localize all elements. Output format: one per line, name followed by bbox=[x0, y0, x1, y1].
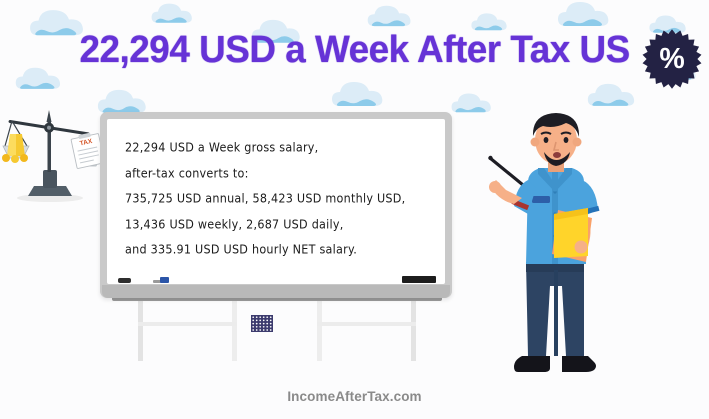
percent-symbol: % bbox=[659, 43, 684, 75]
footer: IncomeAfterTax.com bbox=[0, 388, 709, 406]
flag-star bbox=[263, 326, 265, 328]
flag-star bbox=[256, 323, 258, 325]
cloud-body bbox=[452, 94, 491, 113]
flag-star bbox=[266, 329, 268, 331]
flag-star bbox=[259, 316, 261, 318]
board-line-2: after-tax converts to: bbox=[125, 159, 435, 188]
eye-right bbox=[564, 137, 569, 143]
flag-star bbox=[256, 320, 258, 322]
flag-star bbox=[263, 323, 265, 325]
name-badge bbox=[532, 196, 550, 203]
flag-star bbox=[256, 326, 258, 328]
us-flag-icon bbox=[251, 315, 303, 346]
percent-badge-icon: % bbox=[641, 28, 703, 90]
title-band: 22,294 USD a Week After Tax US bbox=[0, 22, 709, 78]
board-line-5: and 335.91 USD USD hourly NET salary. bbox=[125, 235, 435, 264]
hand-left bbox=[489, 181, 501, 193]
mouth bbox=[553, 152, 561, 158]
shoe-left bbox=[514, 356, 550, 372]
ear-left bbox=[531, 138, 540, 147]
scale-finial bbox=[47, 110, 52, 122]
board-line-1: 22,294 USD a Week gross salary, bbox=[125, 133, 435, 162]
flag-star bbox=[263, 320, 265, 322]
board-eraser-right bbox=[402, 276, 436, 283]
cloud-shape bbox=[452, 94, 491, 113]
stand-leg-left bbox=[138, 301, 143, 361]
stand-crossbar-left bbox=[138, 322, 237, 326]
whiteboard-surface: 22,294 USD a Week gross salary, after-ta… bbox=[107, 119, 445, 284]
flag-star bbox=[263, 329, 265, 331]
flag-star bbox=[266, 320, 268, 322]
cloud-accent bbox=[337, 99, 376, 106]
flag-star bbox=[259, 320, 261, 322]
flag-star bbox=[270, 323, 272, 325]
balance-scale-icon: TAX bbox=[2, 108, 106, 204]
flag-star bbox=[270, 316, 272, 318]
cloud-shape bbox=[152, 4, 192, 23]
scale-base-block bbox=[43, 170, 57, 188]
flag-canton bbox=[251, 315, 273, 332]
stand-leg-inner-left bbox=[232, 301, 237, 361]
whiteboard: 22,294 USD a Week gross salary, after-ta… bbox=[100, 112, 452, 298]
infographic-canvas: 22,294 USD a Week After Tax US % bbox=[0, 0, 709, 419]
cloud-body bbox=[588, 84, 634, 106]
cloud-body bbox=[152, 4, 192, 23]
cloud-shape bbox=[588, 84, 634, 106]
board-marker-blue bbox=[160, 277, 169, 283]
board-eraser-black bbox=[118, 278, 131, 283]
presenter-illustration bbox=[488, 110, 628, 390]
flag-star bbox=[266, 326, 268, 328]
pants-seam bbox=[554, 270, 558, 356]
whiteboard-text: 22,294 USD a Week gross salary, after-ta… bbox=[125, 135, 435, 263]
flag-star bbox=[270, 329, 272, 331]
eye-left bbox=[544, 137, 549, 143]
stand-leg-right bbox=[411, 301, 416, 361]
flag-star bbox=[252, 316, 254, 318]
flag-star bbox=[266, 316, 268, 318]
yellow-folder bbox=[552, 208, 592, 262]
flag-star bbox=[259, 329, 261, 331]
cloud-accent bbox=[20, 83, 54, 89]
flag-star bbox=[252, 320, 254, 322]
flag-star bbox=[270, 326, 272, 328]
flag-star bbox=[252, 326, 254, 328]
cloud-accent bbox=[592, 100, 628, 106]
stand-crossbar-right bbox=[317, 322, 416, 326]
flag-star bbox=[259, 326, 261, 328]
flag-star bbox=[266, 323, 268, 325]
board-line-3: 735,725 USD annual, 58,423 USD monthly U… bbox=[125, 184, 435, 213]
hand-right bbox=[575, 241, 588, 254]
page-title: 22,294 USD a Week After Tax US bbox=[79, 29, 629, 72]
flag-star bbox=[252, 323, 254, 325]
site-name: IncomeAfterTax.com bbox=[287, 389, 421, 404]
ear-right bbox=[573, 138, 582, 147]
whiteboard-tray bbox=[102, 285, 450, 298]
cloud-shape bbox=[332, 82, 382, 106]
cloud-body bbox=[332, 82, 382, 106]
stand-leg-inner-right bbox=[317, 301, 322, 361]
flag-star bbox=[270, 320, 272, 322]
flag-star bbox=[256, 329, 258, 331]
cloud-accent bbox=[455, 107, 486, 112]
flag-star bbox=[252, 329, 254, 331]
flag-star bbox=[263, 316, 265, 318]
shoe-right bbox=[562, 356, 596, 372]
scale-left-pan-group bbox=[2, 121, 29, 163]
flag-star bbox=[256, 316, 258, 318]
flag-star bbox=[259, 323, 261, 325]
board-line-4: 13,436 USD weekly, 2,687 USD daily, bbox=[125, 210, 435, 239]
